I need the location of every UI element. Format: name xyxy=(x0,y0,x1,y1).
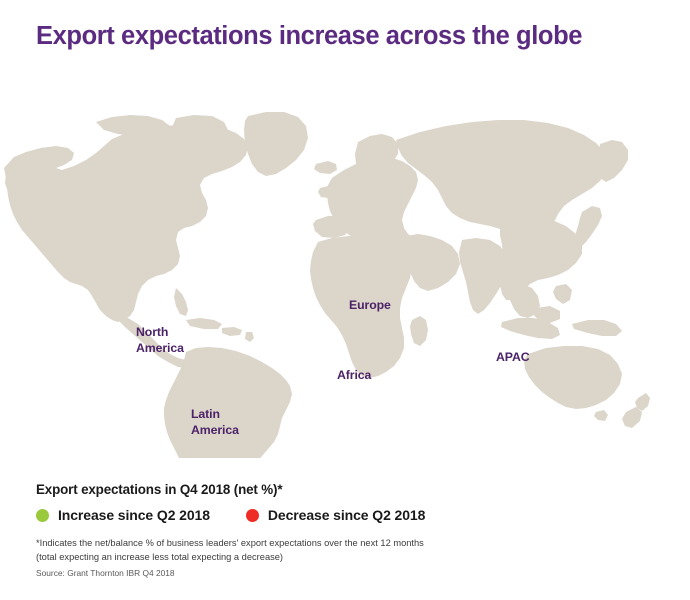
source-text: Source: Grant Thornton IBR Q4 2018 xyxy=(36,568,656,580)
infographic-root: Export expectations increase across the … xyxy=(0,0,690,600)
landmass-new-guinea xyxy=(572,320,622,336)
landmass-cuba xyxy=(186,318,222,329)
page-title: Export expectations increase across the … xyxy=(36,22,666,51)
landmass-greenland xyxy=(244,112,308,176)
landmass-north-america xyxy=(4,124,248,322)
world-map-container: North America Latin America Europe Afric… xyxy=(0,108,690,458)
legend-items: Increase since Q2 2018 Decrease since Q2… xyxy=(36,505,656,525)
landmass-australia xyxy=(524,346,622,409)
region-label-north-america: North America xyxy=(136,324,184,357)
world-map-graphic xyxy=(0,108,690,458)
landmass-kamchatka xyxy=(598,140,628,182)
landmass-madagascar xyxy=(410,316,428,346)
legend-label-decrease: Decrease since Q2 2018 xyxy=(268,507,425,523)
landmass-new-zealand-south xyxy=(622,407,642,428)
landmass-florida xyxy=(174,288,188,316)
landmass-tasmania xyxy=(594,410,608,421)
landmass-lesser-antilles xyxy=(245,332,254,342)
landmass-south-america xyxy=(164,347,292,458)
legend-item-increase: Increase since Q2 2018 xyxy=(36,507,210,523)
region-label-europe: Europe xyxy=(349,297,391,313)
region-label-latin-america: Latin America xyxy=(191,406,239,439)
landmass-hispaniola xyxy=(222,327,242,336)
legend-dot-increase-icon xyxy=(36,509,49,522)
legend: Export expectations in Q4 2018 (net %)* … xyxy=(36,482,656,525)
landmass-iberia xyxy=(313,216,350,238)
legend-item-decrease: Decrease since Q2 2018 xyxy=(246,507,425,523)
region-label-apac: APAC xyxy=(496,349,530,365)
landmass-russia xyxy=(396,120,608,234)
legend-label-increase: Increase since Q2 2018 xyxy=(58,507,210,523)
legend-dot-decrease-icon xyxy=(246,509,259,522)
legend-title: Export expectations in Q4 2018 (net %)* xyxy=(36,482,656,498)
landmass-iceland xyxy=(314,161,337,174)
landmass-middle-east xyxy=(403,234,460,291)
region-label-africa: Africa xyxy=(337,367,371,383)
footnote-text: *Indicates the net/balance % of business… xyxy=(36,536,656,565)
landmass-philippines xyxy=(553,284,572,304)
landmass-japan xyxy=(575,206,602,248)
